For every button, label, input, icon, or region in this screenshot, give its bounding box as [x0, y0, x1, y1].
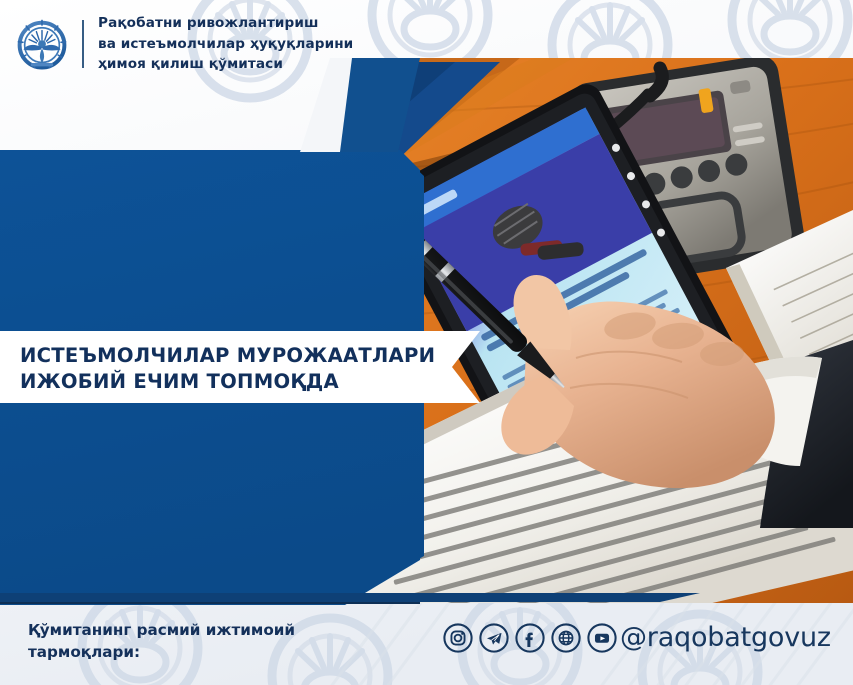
social-handle[interactable]: @raqobatgovuz	[620, 622, 831, 653]
header-divider	[82, 20, 84, 68]
organization-name: Рақобатни ривожлантириш ва истеъмолчилар…	[98, 13, 353, 75]
banner-header: Рақобатни ривожлантириш ва истеъмолчилар…	[0, 0, 853, 58]
website-globe-icon[interactable]	[551, 623, 581, 653]
social-links	[443, 623, 617, 653]
headline-text: ИСТЕЪМОЛЧИЛАР МУРОЖААТЛАРИ ИЖОБИЙ ЕЧИМ Т…	[20, 343, 450, 395]
headline-band: ИСТЕЪМОЛЧИЛАР МУРОЖААТЛАРИ ИЖОБИЙ ЕЧИМ Т…	[0, 331, 480, 403]
telegram-icon[interactable]	[479, 623, 509, 653]
footer-label: Қўмитанинг расмий ижтимоий тармоқлари:	[28, 619, 295, 663]
instagram-icon[interactable]	[443, 623, 473, 653]
facebook-icon[interactable]	[515, 623, 545, 653]
youtube-icon[interactable]	[587, 623, 617, 653]
social-media-banner: Рақобатни ривожлантириш ва истеъмолчилар…	[0, 0, 853, 685]
uzbekistan-state-emblem-icon	[14, 16, 70, 72]
